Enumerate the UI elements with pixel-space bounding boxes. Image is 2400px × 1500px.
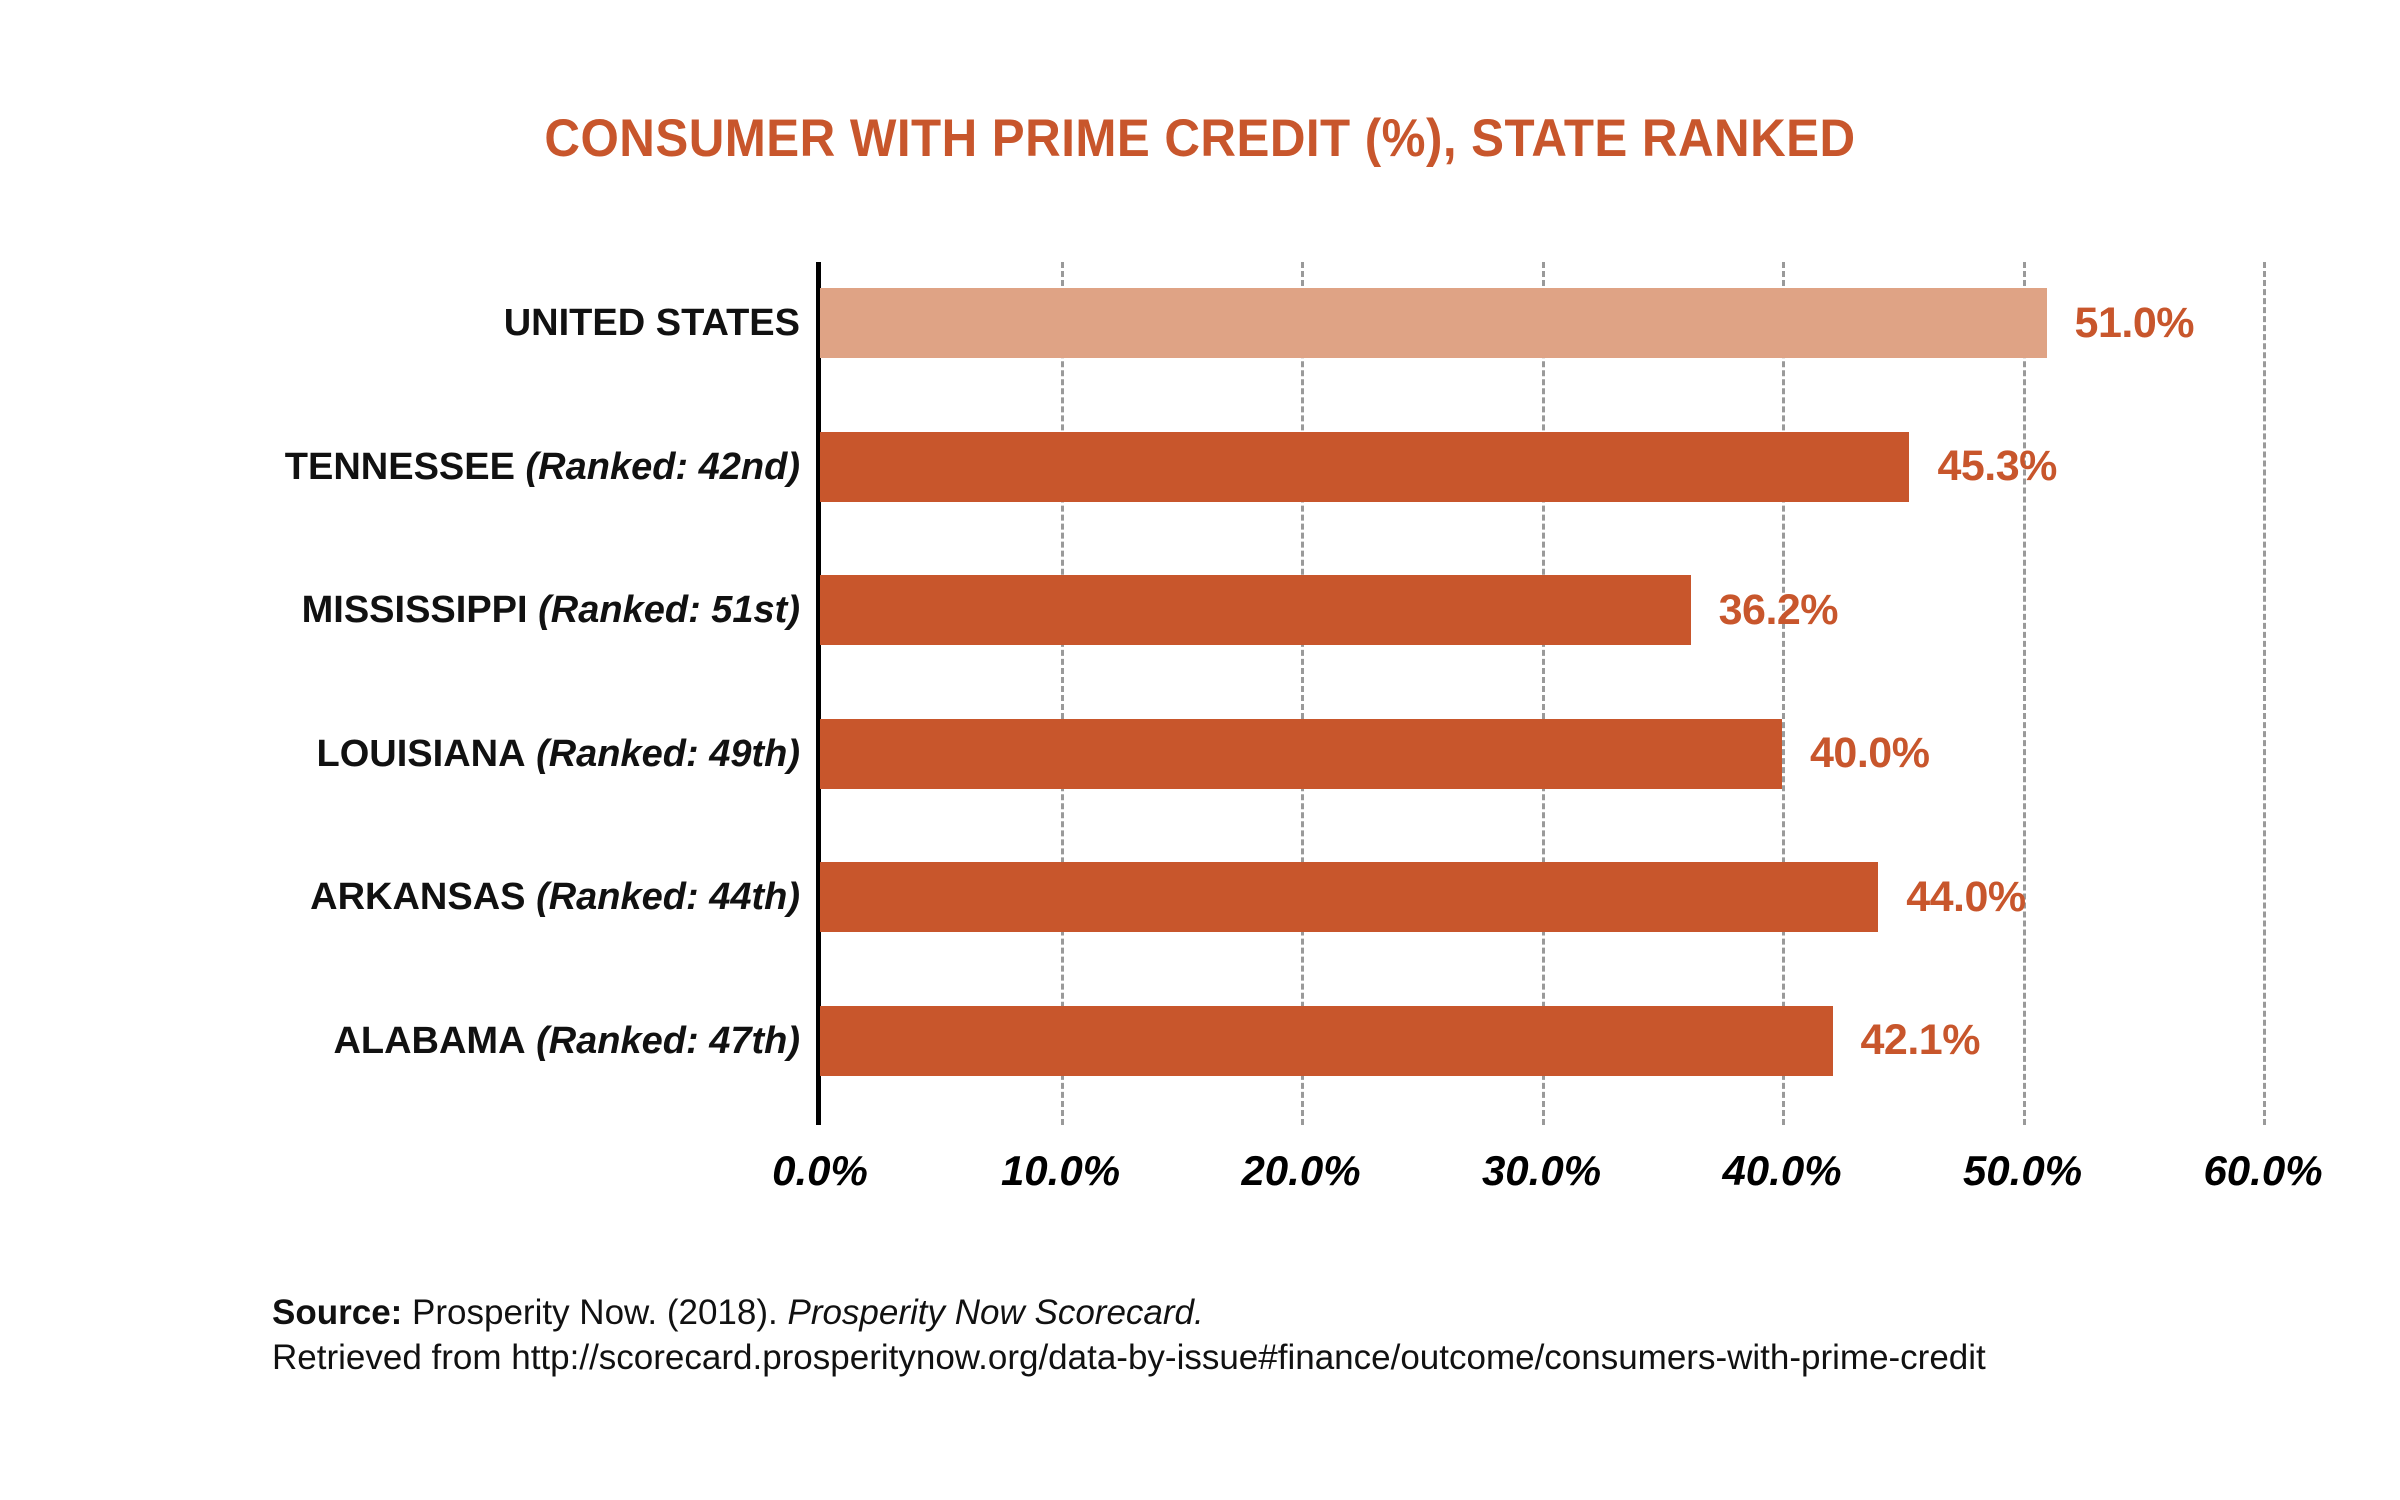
category-label-state: ARKANSAS: [310, 876, 525, 918]
bar-value-label: 36.2%: [1719, 586, 1838, 635]
x-tick-label: 0.0%: [710, 1147, 930, 1195]
source-line-2: Retrieved from http://scorecard.prosperi…: [272, 1335, 2172, 1380]
bar-value-label: 44.0%: [1906, 873, 2025, 922]
category-label: ARKANSAS (Ranked: 44th): [40, 862, 800, 932]
category-label-state: MISSISSIPPI: [302, 589, 528, 631]
bar[interactable]: [820, 719, 1782, 789]
category-label: MISSISSIPPI (Ranked: 51st): [40, 575, 800, 645]
page-title: CONSUMER WITH PRIME CREDIT (%), STATE RA…: [84, 108, 2316, 169]
gridline-30: [1542, 262, 1545, 1125]
x-tick-label: 30.0%: [1432, 1147, 1652, 1195]
bar-row[interactable]: 42.1%: [820, 1006, 1980, 1076]
source-citation: Prosperity Now. (2018).: [402, 1293, 787, 1332]
bar-value-label: 40.0%: [1810, 729, 1929, 778]
bar-value-label: 45.3%: [1937, 442, 2056, 491]
bar-row[interactable]: 45.3%: [820, 432, 2057, 502]
bar-row[interactable]: 44.0%: [820, 862, 2026, 932]
bar[interactable]: [820, 288, 2047, 358]
category-label: ALABAMA (Ranked: 47th): [40, 1006, 800, 1076]
category-label: LOUISIANA (Ranked: 49th): [40, 719, 800, 789]
source-label: Source:: [272, 1293, 402, 1332]
bar-value-label: 42.1%: [1861, 1016, 1980, 1065]
category-label-rank: (Ranked: 49th): [526, 733, 800, 775]
category-label-rank: (Ranked: 44th): [526, 876, 800, 918]
category-label-rank: (Ranked: 51st): [528, 589, 800, 631]
category-label-state: UNITED STATES: [504, 302, 800, 344]
category-label-state: LOUISIANA: [317, 733, 526, 775]
bar[interactable]: [820, 575, 1691, 645]
category-label-rank: (Ranked: 47th): [526, 1020, 800, 1062]
bar-row[interactable]: 36.2%: [820, 575, 1838, 645]
source-citation-title: Prosperity Now Scorecard.: [787, 1293, 1203, 1332]
bar[interactable]: [820, 1006, 1833, 1076]
gridline-50: [2023, 262, 2026, 1125]
x-tick-label: 10.0%: [951, 1147, 1171, 1195]
gridline-60: [2263, 262, 2266, 1125]
source-note: Source: Prosperity Now. (2018). Prosperi…: [272, 1290, 2172, 1380]
x-tick-label: 40.0%: [1672, 1147, 1892, 1195]
category-label-rank: (Ranked: 42nd): [515, 446, 800, 488]
x-tick-label: 60.0%: [2153, 1147, 2373, 1195]
bar[interactable]: [820, 432, 1909, 502]
category-label: TENNESSEE (Ranked: 42nd): [40, 432, 800, 502]
gridline-40: [1782, 262, 1785, 1125]
category-label: UNITED STATES: [40, 288, 800, 358]
gridline-10: [1061, 262, 1064, 1125]
category-label-state: TENNESSEE: [285, 446, 515, 488]
plot-area: 51.0%45.3%36.2%40.0%44.0%42.1%: [820, 262, 2263, 1125]
y-axis-line: [816, 262, 821, 1125]
bar[interactable]: [820, 862, 1878, 932]
x-tick-label: 50.0%: [1913, 1147, 2133, 1195]
bar-value-label: 51.0%: [2075, 299, 2194, 348]
category-label-state: ALABAMA: [333, 1020, 525, 1062]
bar-row[interactable]: 40.0%: [820, 719, 1929, 789]
bar-row[interactable]: 51.0%: [820, 288, 2194, 358]
source-line-1: Source: Prosperity Now. (2018). Prosperi…: [272, 1290, 2172, 1335]
x-tick-label: 20.0%: [1191, 1147, 1411, 1195]
gridline-20: [1301, 262, 1304, 1125]
chart-page: CONSUMER WITH PRIME CREDIT (%), STATE RA…: [0, 0, 2400, 1500]
